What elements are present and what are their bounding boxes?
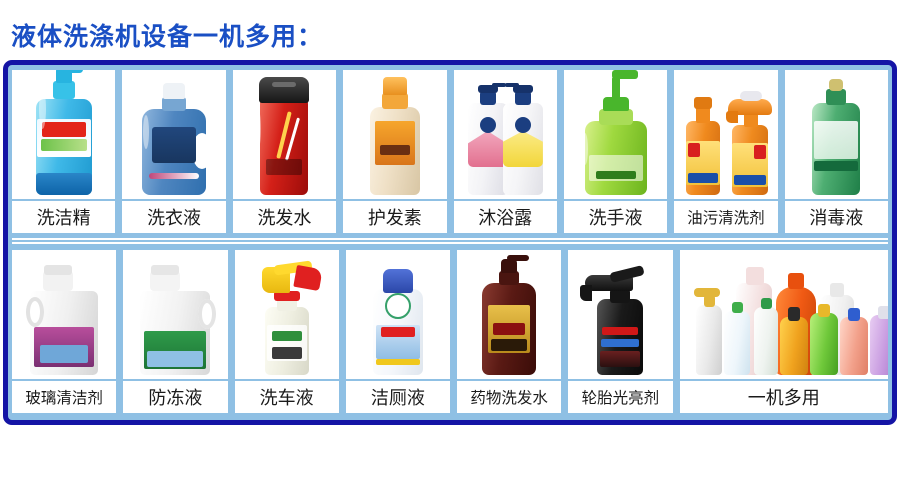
product-label: 一机多用 bbox=[680, 381, 889, 413]
product-cell-assorted-bottles[interactable]: 一机多用 bbox=[680, 250, 889, 413]
row-divider bbox=[12, 233, 888, 250]
degreaser-spray-pair-icon bbox=[674, 70, 777, 199]
product-label: 洗衣液 bbox=[122, 201, 225, 233]
product-label: 玻璃清洁剂 bbox=[12, 381, 116, 413]
dish-soap-bottle-icon bbox=[12, 70, 115, 199]
product-cell-dish-soap[interactable]: 洗洁精 bbox=[12, 70, 115, 233]
antifreeze-jug-icon bbox=[123, 250, 227, 379]
product-label: 轮胎光亮剂 bbox=[568, 381, 672, 413]
product-label: 洗发水 bbox=[233, 201, 336, 233]
product-cell-hand-soap[interactable]: 洗手液 bbox=[564, 70, 667, 233]
product-cell-disinfectant[interactable]: 消毒液 bbox=[785, 70, 888, 233]
product-cell-tire-shine[interactable]: 轮胎光亮剂 bbox=[568, 250, 672, 413]
product-image-tire-shine bbox=[568, 250, 672, 379]
page-title: 液体洗涤机设备一机多用： bbox=[11, 17, 323, 53]
product-label: 药物洗发水 bbox=[457, 381, 561, 413]
product-image-antifreeze bbox=[123, 250, 227, 379]
product-cell-degreaser[interactable]: 油污清洗剂 bbox=[674, 70, 777, 233]
product-image-disinfectant bbox=[785, 70, 888, 199]
product-image-body-wash bbox=[454, 70, 557, 199]
product-image-assorted-bottles bbox=[680, 250, 889, 379]
tire-shine-spray-icon bbox=[568, 250, 672, 379]
toilet-cleaner-bottle-icon bbox=[346, 250, 450, 379]
product-label: 消毒液 bbox=[785, 201, 888, 233]
product-image-glass-cleaner bbox=[12, 250, 116, 379]
product-label: 油污清洗剂 bbox=[674, 201, 777, 233]
product-showcase-page: 液体洗涤机设备一机多用： bbox=[0, 0, 900, 500]
product-grid: 洗洁精 洗衣液 bbox=[8, 65, 892, 420]
product-image-laundry-detergent bbox=[122, 70, 225, 199]
product-image-hand-soap bbox=[564, 70, 667, 199]
product-cell-body-wash[interactable]: 沐浴露 bbox=[454, 70, 557, 233]
product-image-medicated-shampoo bbox=[457, 250, 561, 379]
product-cell-antifreeze[interactable]: 防冻液 bbox=[123, 250, 227, 413]
product-cell-shampoo[interactable]: 洗发水 bbox=[233, 70, 336, 233]
body-wash-pair-icon bbox=[454, 70, 557, 199]
glass-cleaner-jug-icon bbox=[12, 250, 116, 379]
shampoo-bottle-icon bbox=[233, 70, 336, 199]
product-label: 洁厕液 bbox=[346, 381, 450, 413]
hand-soap-pump-icon bbox=[564, 70, 667, 199]
product-label: 洗手液 bbox=[564, 201, 667, 233]
conditioner-bottle-icon bbox=[343, 70, 446, 199]
product-cell-medicated-shampoo[interactable]: 药物洗发水 bbox=[457, 250, 561, 413]
divider-line bbox=[12, 238, 888, 240]
product-row: 洗洁精 洗衣液 bbox=[12, 70, 888, 233]
product-image-degreaser bbox=[674, 70, 777, 199]
laundry-detergent-jug-icon bbox=[122, 70, 225, 199]
disinfectant-bottle-icon bbox=[785, 70, 888, 199]
product-label: 洗车液 bbox=[235, 381, 339, 413]
product-cell-laundry-detergent[interactable]: 洗衣液 bbox=[122, 70, 225, 233]
assorted-bottles-group-icon bbox=[680, 250, 889, 379]
product-cell-conditioner[interactable]: 护发素 bbox=[343, 70, 446, 233]
product-label: 护发素 bbox=[343, 201, 446, 233]
product-image-shampoo bbox=[233, 70, 336, 199]
product-image-dish-soap bbox=[12, 70, 115, 199]
product-label: 沐浴露 bbox=[454, 201, 557, 233]
car-wash-spray-icon bbox=[235, 250, 339, 379]
product-cell-car-wash[interactable]: 洗车液 bbox=[235, 250, 339, 413]
product-image-toilet-cleaner bbox=[346, 250, 450, 379]
product-cell-glass-cleaner[interactable]: 玻璃清洁剂 bbox=[12, 250, 116, 413]
product-cell-toilet-cleaner[interactable]: 洁厕液 bbox=[346, 250, 450, 413]
medicated-shampoo-bottle-icon bbox=[457, 250, 561, 379]
divider-line bbox=[12, 242, 888, 244]
product-label: 洗洁精 bbox=[12, 201, 115, 233]
product-row: 玻璃清洁剂 防冻液 bbox=[12, 250, 888, 413]
product-image-conditioner bbox=[343, 70, 446, 199]
product-image-car-wash bbox=[235, 250, 339, 379]
product-grid-panel: 洗洁精 洗衣液 bbox=[3, 60, 897, 425]
product-label: 防冻液 bbox=[123, 381, 227, 413]
